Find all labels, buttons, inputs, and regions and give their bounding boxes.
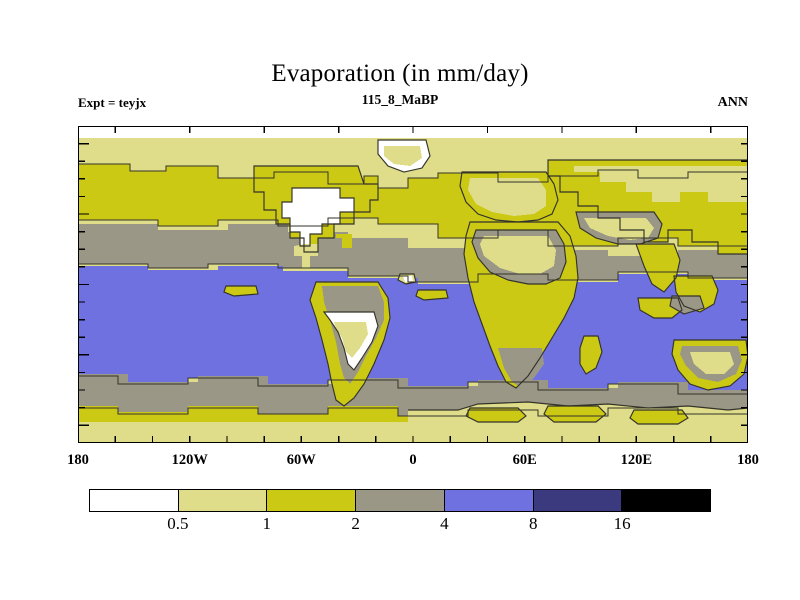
colorbar-band-5 (533, 490, 622, 511)
colorbar-band-1 (178, 490, 267, 511)
contour-map (78, 126, 748, 443)
xtick-0: 0 (409, 452, 416, 469)
xtick-120w: 120W (172, 452, 208, 469)
season-label: ANN (718, 95, 748, 111)
colorbar-label-1: 1 (262, 514, 271, 534)
colorbar-band-6 (621, 490, 710, 511)
colorbar-label-3: 4 (440, 514, 449, 534)
colorbar (89, 489, 711, 512)
experiment-label: Expt = teyjx (78, 95, 146, 111)
colorbar-label-2: 2 (351, 514, 360, 534)
colorbar-band-3 (355, 490, 444, 511)
xtick-60w: 60W (287, 452, 316, 469)
xtick-120e: 120E (621, 452, 652, 469)
evaporation-figure: Evaporation (in mm/day) 115_8_MaBP Expt … (0, 0, 800, 600)
colorbar-band-2 (266, 490, 355, 511)
xtick-180w: 180 (67, 452, 89, 469)
colorbar-label-5: 16 (614, 514, 631, 534)
page-title: Evaporation (in mm/day) (0, 60, 800, 88)
xtick-180e: 180 (737, 452, 759, 469)
colorbar-label-4: 8 (529, 514, 538, 534)
colorbar-band-4 (444, 490, 533, 511)
xtick-60e: 60E (513, 452, 537, 469)
colorbar-band-0 (90, 490, 178, 511)
colorbar-label-0: 0.5 (167, 514, 188, 534)
